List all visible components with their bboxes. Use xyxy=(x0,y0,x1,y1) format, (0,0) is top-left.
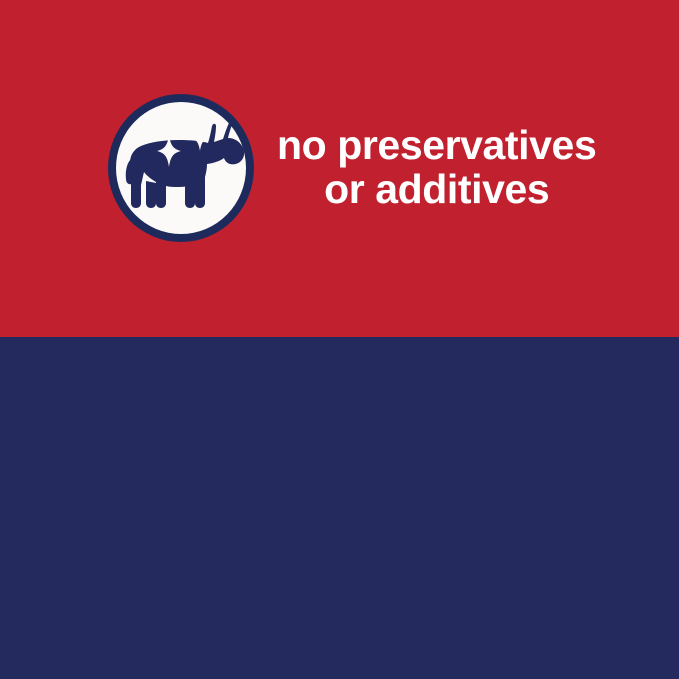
benefits-infographic: no preservatives or additives xyxy=(0,0,679,679)
cow-sparkle-icon xyxy=(107,93,255,243)
panel-no-preservatives: no preservatives or additives xyxy=(0,0,679,337)
caption-line-2: or additives xyxy=(277,168,596,212)
caption-line-1: no preservatives xyxy=(277,124,596,168)
caption-no-preservatives: no preservatives or additives xyxy=(277,124,596,212)
panel-99-digestible: 99% digestible xyxy=(0,337,679,679)
